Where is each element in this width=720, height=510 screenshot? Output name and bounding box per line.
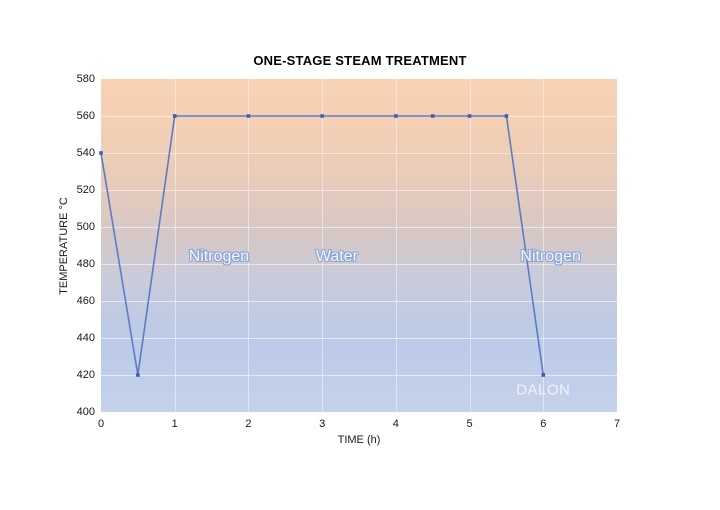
data-point-marker bbox=[431, 114, 435, 118]
data-point-marker bbox=[394, 114, 398, 118]
y-axis-tick-label: 540 bbox=[55, 147, 95, 159]
series-line bbox=[101, 116, 543, 375]
data-point-marker bbox=[468, 114, 472, 118]
y-axis-label: TEMPERATURE °C bbox=[58, 176, 70, 316]
x-axis-label: TIME (h) bbox=[101, 434, 617, 446]
x-axis-tick-label: 1 bbox=[155, 418, 195, 430]
plot-area: NitrogenWaterNitrogenDALON bbox=[101, 79, 617, 412]
y-axis-tick-label: 580 bbox=[55, 73, 95, 85]
x-axis-tick-label: 6 bbox=[523, 418, 563, 430]
data-point-marker bbox=[173, 114, 177, 118]
x-axis-tick-label: 2 bbox=[228, 418, 268, 430]
y-axis-tick-label: 420 bbox=[55, 369, 95, 381]
chart-figure: ONE-STAGE STEAM TREATMENT NitrogenWaterN… bbox=[0, 0, 720, 510]
x-axis-tick-label: 0 bbox=[81, 418, 121, 430]
x-axis-tick-label: 4 bbox=[376, 418, 416, 430]
series-line-chart bbox=[101, 79, 617, 412]
data-point-marker bbox=[505, 114, 509, 118]
chart-title: ONE-STAGE STEAM TREATMENT bbox=[0, 53, 720, 68]
data-point-marker bbox=[99, 151, 103, 155]
x-axis-tick-label: 3 bbox=[302, 418, 342, 430]
data-point-marker bbox=[247, 114, 251, 118]
data-point-marker bbox=[541, 373, 545, 377]
y-axis-tick-label: 440 bbox=[55, 332, 95, 344]
data-point-marker bbox=[136, 373, 140, 377]
y-axis-tick-label: 560 bbox=[55, 110, 95, 122]
y-axis-tick-label: 400 bbox=[55, 406, 95, 418]
x-axis-tick-label: 5 bbox=[450, 418, 490, 430]
x-axis-tick-label: 7 bbox=[597, 418, 637, 430]
data-point-marker bbox=[320, 114, 324, 118]
